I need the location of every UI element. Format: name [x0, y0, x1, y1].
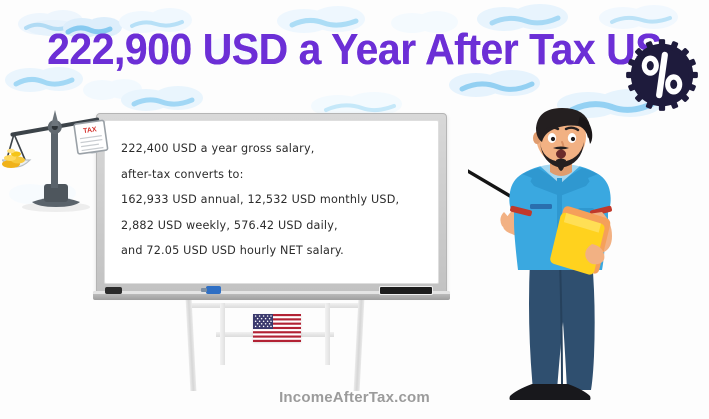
- infographic-canvas: 222,900 USD a Year After Tax US: [0, 0, 709, 419]
- whiteboard-surface: 222,400 USD a year gross salary, after-t…: [104, 120, 439, 284]
- whiteboard-line-5: and 72.05 USD USD hourly NET salary.: [121, 238, 430, 264]
- whiteboard: 222,400 USD a year gross salary, after-t…: [96, 113, 447, 295]
- site-name: IncomeAfterTax.com: [279, 389, 430, 406]
- us-flag: [253, 314, 301, 342]
- page-title: 222,900 USD a Year After Tax US: [0, 20, 709, 80]
- cloud-icon: [120, 82, 206, 114]
- stand-leg-left: [186, 299, 197, 391]
- whiteboard-line-2: after-tax converts to:: [121, 162, 430, 188]
- eraser-left-icon: [105, 287, 122, 294]
- whiteboard-line-4: 2,882 USD weekly, 576.42 USD daily,: [121, 213, 430, 239]
- whiteboard-line-3: 162,933 USD annual, 12,532 USD monthly U…: [121, 187, 430, 213]
- page-title-text: 222,900 USD a Year After Tax US: [47, 26, 662, 74]
- pointer-stick-icon: [468, 168, 510, 196]
- whiteboard-stand: [180, 299, 370, 391]
- balance-scale-icon: TAX: [2, 106, 110, 218]
- stand-leg-inner-left: [220, 303, 225, 365]
- stand-crossbar-top: [190, 303, 360, 308]
- whiteboard-tray: [93, 291, 450, 300]
- stand-leg-inner-right: [325, 303, 330, 365]
- marker-blue-icon: [206, 286, 221, 294]
- percent-badge: [623, 36, 701, 114]
- teacher-character: [468, 108, 653, 400]
- whiteboard-line-1: 222,400 USD a year gross salary,: [121, 136, 430, 162]
- whiteboard-text: 222,400 USD a year gross salary, after-t…: [121, 136, 430, 264]
- percent-badge-icon: [623, 36, 701, 114]
- eraser-right-icon: [379, 286, 433, 295]
- footer: IncomeAfterTax.com: [0, 389, 709, 407]
- stand-leg-right: [354, 299, 365, 391]
